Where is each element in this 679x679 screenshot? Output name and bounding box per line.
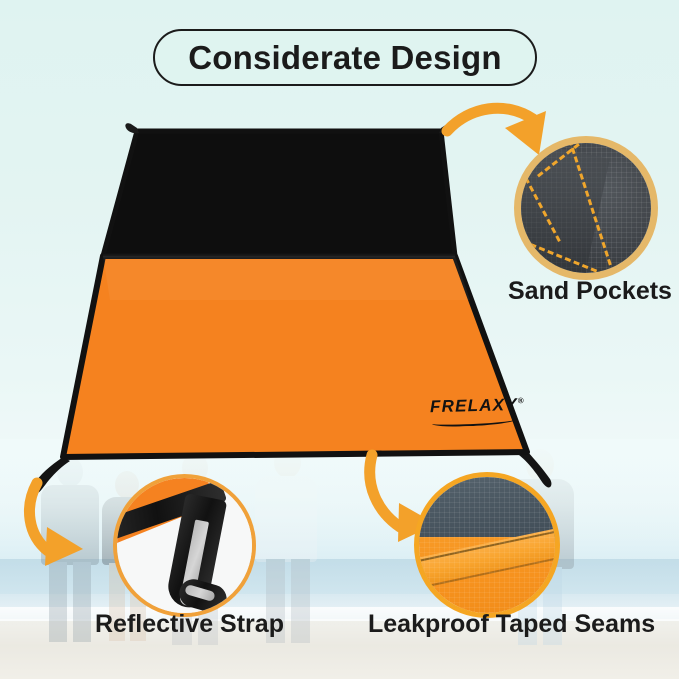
corner-strap-bottom-left [32,457,70,494]
blanket-top-panel [103,131,455,256]
detail-circle-sand-pockets [514,136,658,280]
fabric-weave-texture [419,477,555,613]
corner-loop-top-left [125,123,139,133]
feature-label-reflective-strap: Reflective Strap [95,610,284,639]
detail-circle-leakproof-seams [414,472,560,618]
beach-blanket-illustration: FRELAXY® [0,0,679,679]
product-infographic: Considerate Design FRELAXY® [0,0,679,679]
detail-circle-reflective-strap [113,474,256,617]
brand-logo-text: FRELAXY® [430,395,525,417]
corner-loop-top-right [439,123,453,133]
feature-label-sand-pockets: Sand Pockets [508,277,672,306]
feature-label-leakproof-seams: Leakproof Taped Seams [368,610,655,639]
